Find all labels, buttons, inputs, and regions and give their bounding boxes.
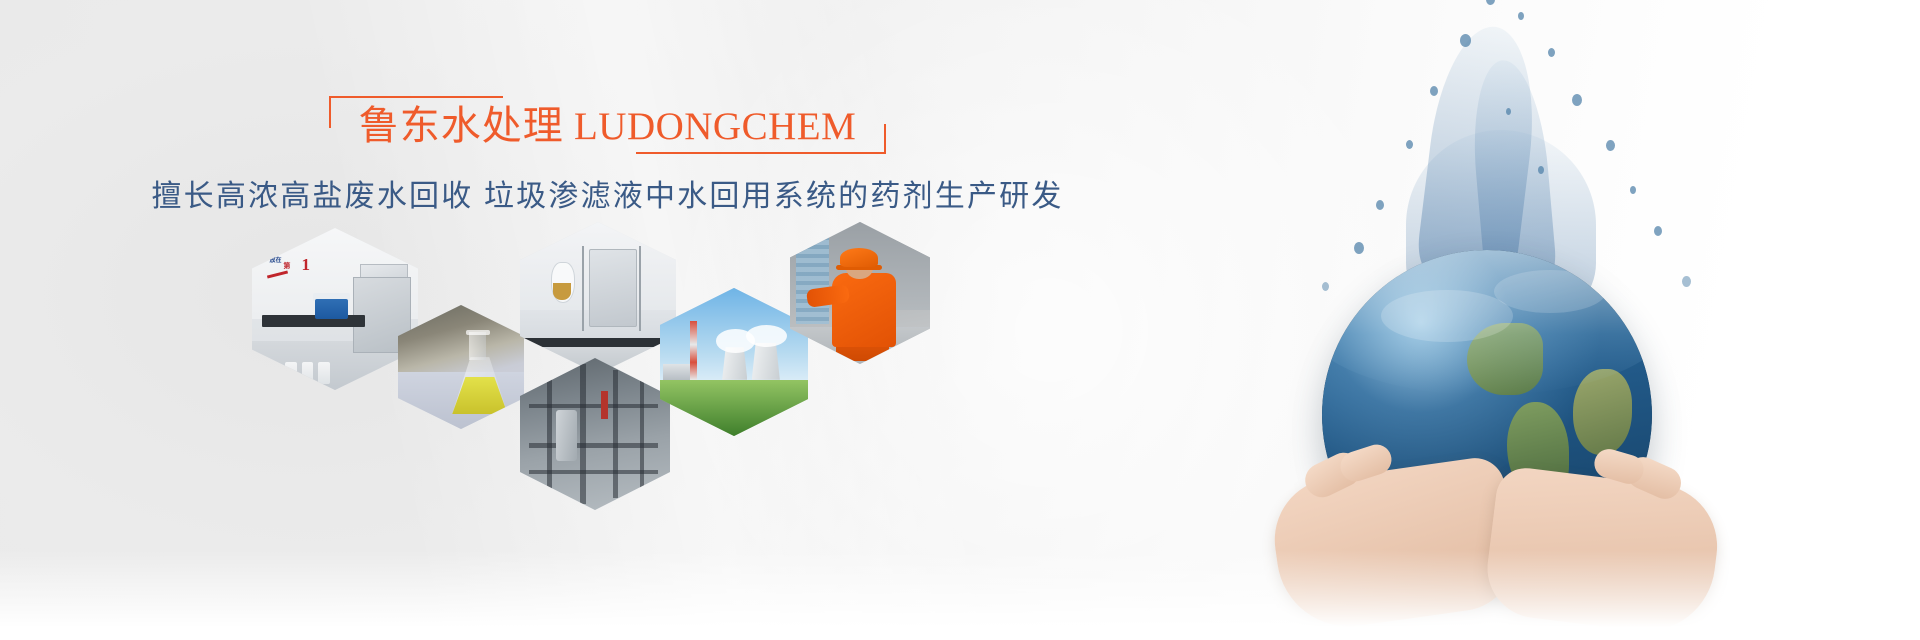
power-building: [663, 364, 690, 380]
hex-tile-laboratory-room[interactable]: 放在 第 1: [252, 228, 418, 390]
water-droplet: [1376, 200, 1384, 210]
pipe-red-valve: [601, 391, 608, 418]
lab-machine: [315, 299, 348, 318]
hex-tile-industrial-piping[interactable]: [520, 358, 670, 510]
equipment-amber-liquid: [553, 283, 572, 300]
wall-slogan-number: 1: [302, 256, 311, 273]
equipment-bench: [520, 338, 676, 347]
pipe-tank: [556, 410, 577, 462]
water-droplet: [1572, 94, 1582, 106]
pipe-horizontal: [529, 443, 658, 448]
globe-foam: [1381, 290, 1513, 343]
photo-power-plant: [660, 288, 808, 436]
lab-jug: [318, 362, 330, 383]
pipe-vertical: [613, 370, 618, 498]
hex-tile-worker[interactable]: [790, 222, 930, 364]
water-droplet: [1548, 48, 1555, 57]
water-droplet: [1486, 0, 1495, 5]
pipe-vertical: [640, 373, 644, 495]
equipment-stand-rod: [582, 246, 584, 331]
photo-laboratory-room: 放在 第 1: [252, 228, 418, 390]
flask-lip: [466, 330, 490, 335]
photo-worker-inspecting: [790, 222, 930, 364]
water-droplet: [1460, 34, 1471, 47]
worker-pipes: [796, 236, 830, 324]
photo-lab-equipment: [520, 222, 676, 374]
hero-banner: 鲁东水处理 LUDONGCHEM 擅长高浓高盐废水回收 垃圾渗滤液中水回用系统的…: [0, 0, 1920, 640]
water-droplet: [1430, 86, 1438, 96]
power-chimney: [690, 321, 697, 380]
water-globe-artwork: [1060, 0, 1920, 640]
right-hand: [1482, 465, 1724, 639]
wall-slogan-blue: 放在: [269, 255, 281, 264]
wall-slogan-arrow: [267, 271, 288, 279]
water-droplet: [1354, 242, 1364, 254]
hex-tile-power-plant[interactable]: [660, 288, 808, 436]
water-droplet: [1538, 166, 1544, 174]
equipment-rig: [589, 249, 638, 327]
globe-foam: [1494, 270, 1606, 313]
water-droplet: [1406, 140, 1413, 149]
photo-industrial-piping: [520, 358, 670, 510]
pipe-horizontal: [529, 404, 658, 408]
lab-wall-slogan: 放在 第 1: [265, 254, 335, 296]
pipe-vertical: [580, 364, 586, 504]
water-droplet: [1506, 108, 1511, 115]
lab-bench: [262, 315, 365, 326]
water-droplet: [1518, 12, 1524, 20]
pipe-horizontal: [529, 470, 658, 474]
cooling-tower: [752, 343, 780, 380]
water-droplet: [1606, 140, 1615, 151]
flask-neck: [469, 332, 487, 359]
power-grass: [660, 380, 808, 436]
safety-helmet: [840, 248, 878, 268]
splash-sheet: [1415, 21, 1545, 281]
hexagon-photo-cluster: 放在 第 1: [0, 0, 1060, 640]
equipment-stand-rod: [639, 246, 641, 331]
water-droplet: [1654, 226, 1662, 236]
water-droplet: [1630, 186, 1636, 194]
pipe-vertical: [547, 367, 552, 501]
lab-jug: [302, 362, 314, 383]
hex-tile-lab-equipment[interactable]: [520, 222, 676, 374]
hands-holding-globe: [1276, 452, 1716, 640]
lab-jug: [285, 362, 297, 383]
water-droplet: [1682, 276, 1691, 287]
